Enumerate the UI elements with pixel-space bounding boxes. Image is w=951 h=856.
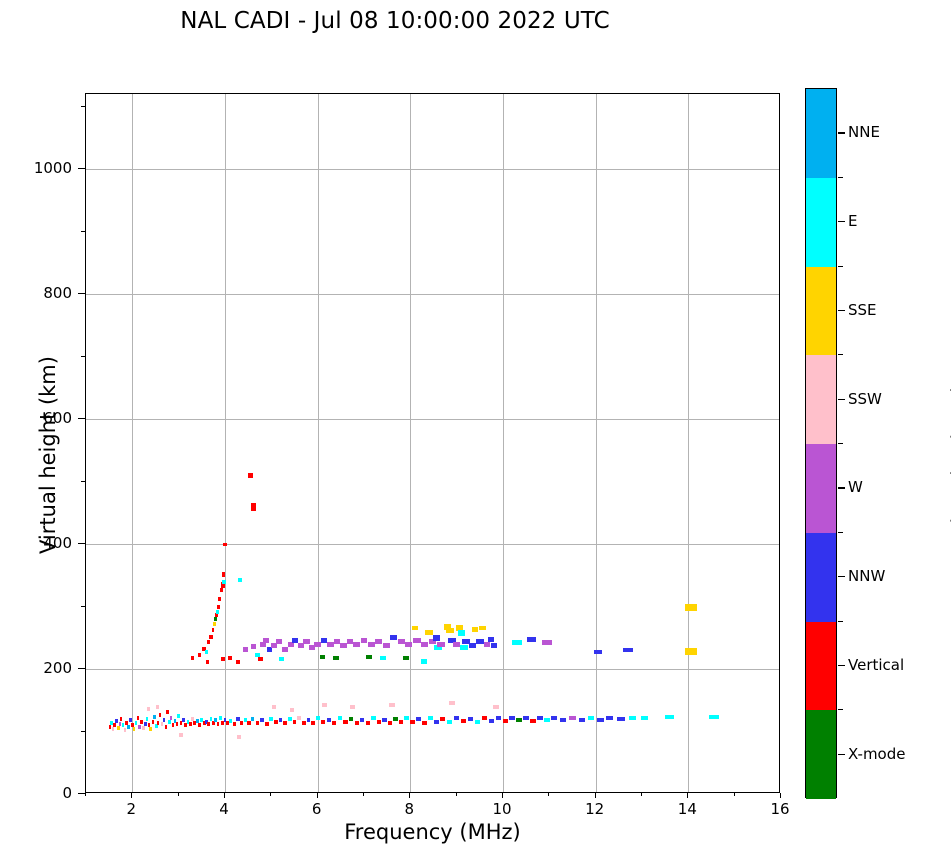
data-point [353, 642, 359, 647]
data-point [269, 717, 273, 721]
data-point [189, 722, 192, 726]
azimuth-colorbar[interactable] [805, 88, 837, 798]
data-point [489, 719, 494, 723]
data-point [279, 718, 283, 722]
data-point [135, 721, 137, 725]
data-point [390, 635, 397, 640]
data-point [579, 718, 585, 722]
x-tick [131, 793, 132, 798]
colorbar-tick [838, 487, 845, 488]
x-tick-label: 6 [312, 800, 322, 818]
data-point [422, 721, 427, 725]
colorbar-tick [838, 576, 845, 577]
colorbar-segment-nnw[interactable] [806, 533, 836, 622]
data-point [213, 622, 216, 626]
colorbar-tick [838, 399, 845, 400]
data-point [137, 716, 139, 720]
colorbar-segment-x-mode[interactable] [806, 710, 836, 799]
colorbar-segment-sse[interactable] [806, 267, 836, 356]
data-point [327, 718, 331, 722]
data-point [551, 716, 557, 720]
data-point [177, 714, 180, 718]
data-point [198, 723, 201, 727]
data-point [382, 718, 387, 722]
data-point [349, 717, 353, 721]
colorbar-boundary-tick [838, 177, 843, 178]
data-point [383, 643, 390, 648]
data-point [247, 721, 250, 725]
data-point [412, 626, 418, 630]
data-point [594, 650, 602, 654]
x-tick [409, 793, 410, 798]
y-tick [78, 168, 85, 169]
y-tick-minor [81, 731, 85, 732]
data-point [144, 722, 147, 726]
data-point [569, 716, 575, 720]
data-point [641, 716, 648, 720]
data-point [274, 720, 278, 724]
colorbar-segment-e[interactable] [806, 178, 836, 267]
x-axis-label: Frequency (MHz) [85, 820, 780, 844]
data-point [115, 719, 117, 723]
data-point [493, 705, 499, 709]
x-tick-minor [548, 793, 549, 796]
data-point [361, 638, 368, 643]
data-point [434, 720, 439, 724]
data-point [276, 639, 282, 644]
data-point [112, 727, 114, 731]
data-point [475, 720, 480, 724]
data-point [156, 705, 159, 709]
data-point [217, 605, 220, 609]
data-point [606, 716, 612, 720]
data-point [469, 643, 476, 648]
data-point [113, 723, 116, 727]
data-point [163, 718, 165, 722]
colorbar-label-w: W [848, 478, 863, 496]
data-point [421, 659, 427, 664]
data-point [393, 717, 398, 721]
colorbar-boundary-tick [838, 532, 843, 533]
y-tick-label: 200 [12, 659, 72, 677]
data-point [425, 630, 432, 635]
data-point [665, 715, 674, 719]
data-point [283, 721, 287, 725]
data-point [209, 635, 212, 639]
data-point [212, 628, 215, 632]
data-point [623, 648, 632, 652]
data-point [222, 580, 226, 584]
data-point [491, 643, 497, 648]
data-point [251, 503, 256, 511]
data-point [251, 717, 254, 721]
data-point [159, 713, 161, 717]
data-point [119, 722, 121, 726]
data-point [297, 716, 301, 720]
data-point [389, 703, 395, 707]
data-point [488, 637, 494, 642]
data-point [454, 716, 459, 720]
data-point [404, 716, 409, 720]
data-point [168, 720, 170, 724]
data-point [479, 626, 485, 630]
data-point [484, 642, 490, 647]
x-tick-label: 16 [770, 800, 789, 818]
data-point [388, 721, 393, 725]
data-point [523, 716, 529, 720]
data-point [191, 656, 195, 660]
data-point [509, 716, 515, 720]
data-point [215, 613, 218, 617]
colorbar-label-sse: SSE [848, 301, 877, 319]
data-point [355, 721, 359, 725]
data-point [453, 642, 460, 647]
x-tick [595, 793, 596, 798]
colorbar-tick [838, 221, 845, 222]
x-tick [687, 793, 688, 798]
data-point [403, 656, 409, 660]
colorbar-boundary-tick [838, 266, 843, 267]
x-tick-label: 10 [492, 800, 511, 818]
data-point [302, 721, 306, 725]
data-point [530, 719, 536, 723]
x-tick-label: 12 [585, 800, 604, 818]
data-point [709, 715, 719, 719]
data-point [222, 572, 225, 577]
data-point [206, 660, 210, 664]
y-tick-minor [81, 106, 85, 107]
data-point [161, 722, 164, 726]
x-tick [780, 793, 781, 798]
data-point [172, 723, 175, 727]
data-point [449, 701, 455, 705]
x-tick-minor [456, 793, 457, 796]
data-point [223, 543, 227, 546]
data-point [399, 720, 404, 724]
data-point [617, 717, 624, 721]
data-point [537, 716, 543, 720]
data-point [322, 703, 327, 707]
data-point [428, 716, 433, 720]
data-point [251, 644, 257, 649]
data-point [182, 718, 185, 722]
colorbar-label-nne: NNE [848, 123, 880, 141]
data-point [320, 655, 326, 659]
data-point [260, 718, 264, 722]
data-point [237, 735, 240, 739]
data-point [228, 656, 232, 660]
x-tick-minor [178, 793, 179, 796]
x-tick-minor [641, 793, 642, 796]
data-point [127, 725, 129, 729]
data-point [233, 722, 236, 726]
data-point [311, 721, 315, 725]
data-point [184, 723, 187, 727]
x-tick-label: 8 [405, 800, 415, 818]
data-point [447, 720, 452, 724]
data-point [221, 657, 225, 661]
data-point [238, 578, 242, 582]
data-point [461, 719, 466, 723]
x-tick [502, 793, 503, 798]
data-point [265, 722, 269, 726]
data-point [460, 645, 467, 650]
y-tick [78, 543, 85, 544]
data-point [468, 717, 473, 721]
ionogram-plot [85, 93, 780, 793]
data-point [368, 642, 375, 647]
colorbar-label-vertical: Vertical [848, 656, 904, 674]
data-point [544, 718, 550, 722]
data-point [207, 722, 210, 726]
data-point [307, 718, 311, 722]
y-axis-label: Virtual height (km) [36, 255, 60, 655]
data-point [303, 639, 309, 644]
data-point [272, 705, 276, 709]
data-point [138, 725, 141, 729]
data-point [405, 642, 412, 647]
y-tick-minor [81, 356, 85, 357]
data-point [218, 597, 221, 601]
colorbar-segment-ssw[interactable] [806, 355, 836, 444]
data-point [371, 716, 376, 720]
x-tick-minor [734, 793, 735, 796]
data-point [316, 716, 320, 720]
data-point [366, 721, 370, 725]
y-tick [78, 793, 85, 794]
data-point [482, 716, 487, 720]
colorbar-segment-vertical[interactable] [806, 622, 836, 711]
data-point [375, 639, 382, 644]
colorbar-label-ssw: SSW [848, 390, 882, 408]
data-point [217, 722, 220, 726]
colorbar-tick [838, 754, 845, 755]
data-point [685, 604, 697, 611]
data-point [416, 717, 421, 721]
data-point [263, 638, 269, 643]
data-point [377, 720, 382, 724]
x-tick [224, 793, 225, 798]
colorbar-boundary-tick [838, 443, 843, 444]
data-point [110, 721, 112, 725]
x-tick-minor [363, 793, 364, 796]
colorbar-label-nnw: NNW [848, 567, 885, 585]
data-point [124, 728, 126, 732]
x-tick [317, 793, 318, 798]
data-point [527, 637, 536, 642]
data-point [205, 650, 208, 654]
data-point [153, 715, 155, 719]
data-point [120, 717, 122, 721]
colorbar-boundary-tick [838, 621, 843, 622]
colorbar-boundary-tick [838, 354, 843, 355]
data-point [176, 722, 178, 726]
data-point [248, 473, 252, 478]
data-point [476, 639, 483, 644]
colorbar-segment-w[interactable] [806, 444, 836, 533]
data-point [433, 635, 440, 641]
data-point [216, 610, 219, 614]
y-tick-label: 0 [12, 784, 72, 802]
data-point [157, 721, 159, 725]
y-tick-minor [81, 606, 85, 607]
colorbar-tick [838, 132, 845, 133]
data-point [288, 717, 292, 721]
data-point [293, 720, 297, 724]
data-point [333, 656, 339, 660]
data-point [122, 723, 125, 727]
data-point [338, 716, 342, 720]
data-point [597, 718, 603, 722]
data-point [147, 707, 150, 711]
data-point [503, 719, 509, 723]
data-point [398, 639, 405, 644]
data-point [437, 642, 444, 647]
data-point [279, 657, 284, 661]
data-point [350, 705, 355, 709]
page-title: NAL CADI - Jul 08 10:00:00 2022 UTC [0, 8, 790, 34]
colorbar-segment-nne[interactable] [806, 89, 836, 178]
x-tick-label: 4 [219, 800, 229, 818]
colorbar-tick [838, 310, 845, 311]
data-point [685, 648, 697, 655]
data-point [258, 657, 263, 661]
x-tick-label: 2 [127, 800, 137, 818]
data-point [421, 642, 428, 647]
colorbar-boundary-tick [838, 709, 843, 710]
data-point [166, 710, 169, 714]
data-point [149, 727, 152, 731]
data-point [117, 726, 120, 730]
data-point [542, 640, 552, 645]
data-point [170, 716, 172, 720]
data-point [165, 725, 167, 729]
data-point [282, 647, 288, 652]
colorbar-tick [838, 665, 845, 666]
colorbar-label-x-mode: X-mode [848, 745, 905, 763]
data-point [496, 716, 501, 720]
data-point [472, 627, 478, 632]
data-point [321, 720, 325, 724]
data-point [146, 717, 148, 721]
colorbar-label-e: E [848, 212, 857, 230]
data-point [179, 733, 182, 737]
data-layer [86, 94, 779, 792]
data-point [256, 721, 260, 725]
data-point [214, 617, 217, 621]
data-point [360, 718, 364, 722]
y-tick-minor [81, 481, 85, 482]
data-point [142, 726, 144, 730]
data-point [133, 727, 135, 731]
data-point [458, 630, 465, 636]
x-tick-label: 14 [678, 800, 697, 818]
data-point [343, 720, 347, 724]
y-tick [78, 418, 85, 419]
data-point [413, 638, 420, 643]
data-point [332, 721, 336, 725]
data-point [220, 588, 223, 592]
data-point [152, 720, 154, 724]
y-tick-minor [81, 231, 85, 232]
data-point [588, 716, 594, 720]
data-point [446, 628, 453, 633]
data-point [236, 660, 240, 664]
data-point [410, 720, 415, 724]
data-point [516, 718, 522, 722]
data-point [140, 720, 142, 724]
x-tick-minor [85, 793, 86, 796]
data-point [380, 656, 386, 660]
y-tick-label: 1000 [12, 159, 72, 177]
x-tick-minor [270, 793, 271, 796]
data-point [207, 640, 210, 644]
y-tick [78, 293, 85, 294]
data-point [366, 655, 372, 659]
data-point [512, 640, 521, 645]
data-point [129, 718, 131, 722]
y-tick [78, 668, 85, 669]
data-point [440, 717, 445, 721]
data-point [629, 716, 636, 720]
data-point [198, 653, 202, 657]
data-point [243, 647, 248, 652]
data-point [290, 708, 294, 712]
data-point [560, 718, 566, 722]
